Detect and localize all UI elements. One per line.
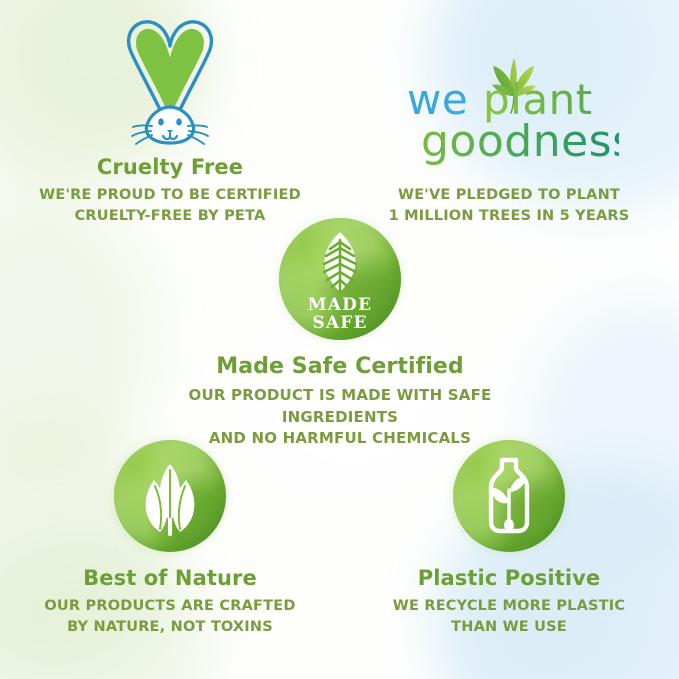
badge-we-plant-goodness: we plant goodness WE'VE PLEDGED TO PLANT… [339, 52, 679, 226]
badge-subtitle-line-2: BY NATURE, NOT TOXINS [67, 619, 273, 635]
badge-subtitle-line-2: THAN WE USE [451, 619, 567, 635]
three-leaves-sprout-icon [114, 440, 226, 552]
badge-subtitle-line-1: WE'RE PROUD TO BE CERTIFIED [39, 187, 301, 203]
badge-subtitle-line-1: OUR PRODUCTS ARE CRAFTED [44, 598, 295, 614]
made-safe-text-line-2: SAFE [312, 313, 367, 333]
badge-cruelty-free: Cruelty Free WE'RE PROUD TO BE CERTIFIED… [0, 12, 340, 226]
made-safe-leaf-badge-icon: MADE SAFE [279, 218, 401, 340]
badge-title: Made Safe Certified [140, 354, 540, 379]
bottle-with-sprout-icon [453, 440, 565, 552]
badge-plastic-positive: Plastic Positive WE RECYCLE MORE PLASTIC… [339, 440, 679, 637]
badge-title: Best of Nature [0, 566, 340, 590]
badge-title: Plastic Positive [339, 566, 679, 590]
badge-subtitle-line-1: WE RECYCLE MORE PLASTIC [393, 598, 625, 614]
badge-grid: Cruelty Free WE'RE PROUD TO BE CERTIFIED… [0, 0, 679, 679]
made-safe-text-line-1: MADE [308, 295, 373, 315]
badge-subtitle: WE RECYCLE MORE PLASTIC THAN WE USE [339, 596, 679, 637]
badge-made-safe: MADE SAFE Made Safe Certified OUR PRODUC… [140, 218, 540, 449]
infographic-canvas: Cruelty Free WE'RE PROUD TO BE CERTIFIED… [0, 0, 679, 679]
badge-best-of-nature: Best of Nature OUR PRODUCTS ARE CRAFTED … [0, 440, 340, 637]
badge-subtitle-line-1: OUR PRODUCT IS MADE WITH SAFE INGREDIENT… [189, 386, 492, 425]
badge-title: Cruelty Free [0, 155, 340, 179]
logo-word-goodness: goodness [421, 116, 619, 167]
badge-subtitle-line-1: WE'VE PLEDGED TO PLANT [398, 187, 620, 203]
badge-subtitle: OUR PRODUCTS ARE CRAFTED BY NATURE, NOT … [0, 596, 340, 637]
peta-bunny-heart-icon [0, 12, 340, 155]
we-plant-goodness-logo: we plant goodness [339, 52, 679, 173]
